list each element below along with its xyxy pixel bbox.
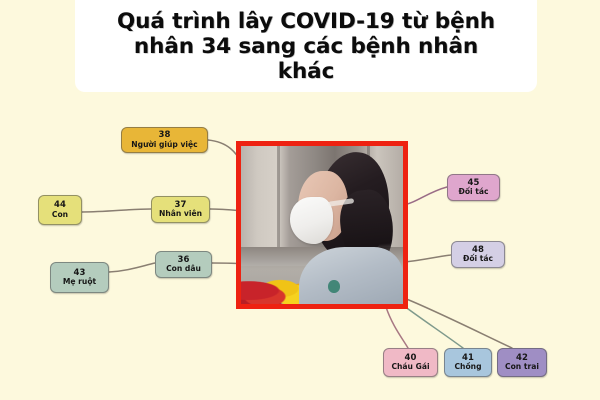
node-48-number: 48 (472, 246, 484, 255)
photo-shoulder (299, 247, 403, 304)
link-center-48 (403, 255, 451, 262)
node-41[interactable]: 41Chồng (444, 348, 492, 377)
node-40-label: Cháu Gái (391, 363, 429, 371)
node-37[interactable]: 37Nhân viên (151, 196, 210, 223)
node-37-number: 37 (174, 201, 186, 210)
photo-wall-seam (277, 146, 280, 250)
node-45-number: 45 (467, 179, 479, 188)
node-38[interactable]: 38Người giúp việc (121, 127, 208, 153)
node-41-number: 41 (462, 354, 474, 363)
node-43[interactable]: 43Mẹ ruột (50, 262, 109, 293)
page-title: Quá trình lây COVID-19 từ bệnh nhân 34 s… (75, 9, 537, 84)
node-38-number: 38 (158, 131, 170, 140)
node-38-label: Người giúp việc (131, 141, 197, 149)
node-44-number: 44 (54, 201, 66, 210)
node-40-number: 40 (404, 354, 416, 363)
link-center-40 (386, 307, 408, 348)
patient-photo (236, 141, 408, 309)
node-41-label: Chồng (454, 363, 481, 371)
photo-badge (328, 280, 339, 293)
node-44[interactable]: 44Con (38, 195, 82, 225)
node-36-label: Con dâu (166, 265, 201, 273)
node-40[interactable]: 40Cháu Gái (383, 348, 438, 377)
node-48-label: Đối tác (463, 255, 493, 263)
photo-face-mask (290, 197, 334, 244)
node-36-number: 36 (177, 256, 189, 265)
node-45[interactable]: 45Đối tác (447, 174, 500, 201)
node-42-label: Con trai (505, 363, 539, 371)
title-panel: Quá trình lây COVID-19 từ bệnh nhân 34 s… (75, 0, 537, 92)
diagram-canvas: 38Người giúp việc44Con37Nhân viên36Con d… (0, 0, 600, 400)
node-36[interactable]: 36Con dâu (155, 251, 212, 278)
link-43-36 (109, 263, 155, 272)
node-42[interactable]: 42Con trai (497, 348, 547, 377)
link-44-37 (82, 209, 151, 212)
node-43-number: 43 (73, 269, 85, 278)
link-center-45 (403, 187, 447, 205)
node-43-label: Mẹ ruột (63, 278, 96, 286)
node-44-label: Con (52, 211, 68, 219)
link-center-42 (404, 298, 512, 348)
node-48[interactable]: 48Đối tác (451, 241, 505, 268)
photo-content (241, 146, 403, 304)
node-45-label: Đối tác (458, 188, 488, 196)
node-37-label: Nhân viên (159, 210, 202, 218)
node-42-number: 42 (516, 354, 528, 363)
